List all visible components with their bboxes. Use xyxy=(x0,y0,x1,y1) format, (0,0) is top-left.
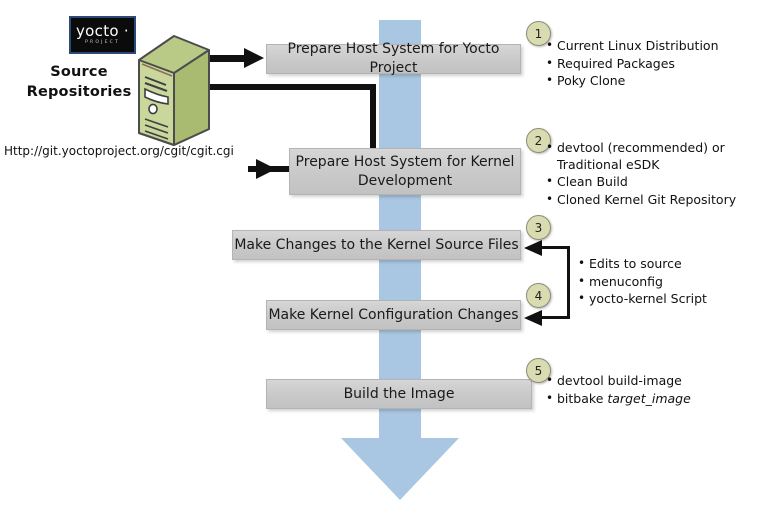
step1-bullet-list: Current Linux Distribution Required Pack… xyxy=(546,38,761,91)
arrowhead-step2-icon xyxy=(256,159,276,179)
list-item: devtool (recommended) or Traditional eSD… xyxy=(546,140,761,173)
list-item: Required Packages xyxy=(546,56,761,73)
step-box-make-kernel-source-changes[interactable]: Make Changes to the Kernel Source Files xyxy=(232,230,521,260)
step-box-prepare-host-kernel[interactable]: Prepare Host System for Kernel Developme… xyxy=(289,148,521,195)
bitbake-command-prefix: bitbake xyxy=(557,391,607,406)
bracket-connector-to-step3 xyxy=(540,246,570,249)
step-number-3: 3 xyxy=(526,215,551,240)
step3-4-bullet-list: Edits to source menuconfig yocto-kernel … xyxy=(578,256,763,309)
step5-bullet-list: devtool build-image bitbake target_image xyxy=(546,373,761,408)
list-item: bitbake target_image xyxy=(546,391,761,408)
list-item: Current Linux Distribution xyxy=(546,38,761,55)
logo-subtext: PROJECT xyxy=(85,41,120,46)
logo-wordmark: yocto · xyxy=(76,24,129,39)
arrowhead-step3-icon xyxy=(524,240,542,256)
list-item: menuconfig xyxy=(578,274,763,291)
list-item: yocto-kernel Script xyxy=(578,291,763,308)
workflow-arrow-icon xyxy=(341,438,459,500)
list-item: Poky Clone xyxy=(546,73,761,90)
step-box-make-kernel-config-changes[interactable]: Make Kernel Configuration Changes xyxy=(266,300,521,330)
step-box-prepare-host-yocto[interactable]: Prepare Host System for Yocto Project xyxy=(266,44,521,74)
source-repositories-label: Source Repositories xyxy=(18,62,140,102)
list-item: Cloned Kernel Git Repository xyxy=(546,192,761,209)
diagram-canvas: yocto · PROJECT Source Repositories Http… xyxy=(0,0,769,517)
source-label-line1: Source xyxy=(18,62,140,82)
arrowhead-step4-icon xyxy=(524,310,542,326)
yocto-project-logo: yocto · PROJECT xyxy=(69,16,136,54)
bitbake-target-image: target_image xyxy=(607,391,690,406)
list-item: Clean Build xyxy=(546,174,761,191)
workflow-spine xyxy=(379,20,421,438)
bracket-connector-vertical xyxy=(567,246,570,319)
step-box-build-image[interactable]: Build the Image xyxy=(266,379,532,409)
connector-server-to-step2-horizontal xyxy=(210,84,376,90)
arrowhead-step1-icon xyxy=(244,48,264,68)
bracket-connector-to-step4 xyxy=(540,316,570,319)
list-item: Edits to source xyxy=(578,256,763,273)
step-number-4: 4 xyxy=(526,283,551,308)
connector-server-to-step1 xyxy=(210,55,246,62)
step2-bullet-list: devtool (recommended) or Traditional eSD… xyxy=(546,140,761,209)
server-tower-icon xyxy=(136,33,212,148)
source-label-line2: Repositories xyxy=(18,82,140,102)
list-item: devtool build-image xyxy=(546,373,761,390)
